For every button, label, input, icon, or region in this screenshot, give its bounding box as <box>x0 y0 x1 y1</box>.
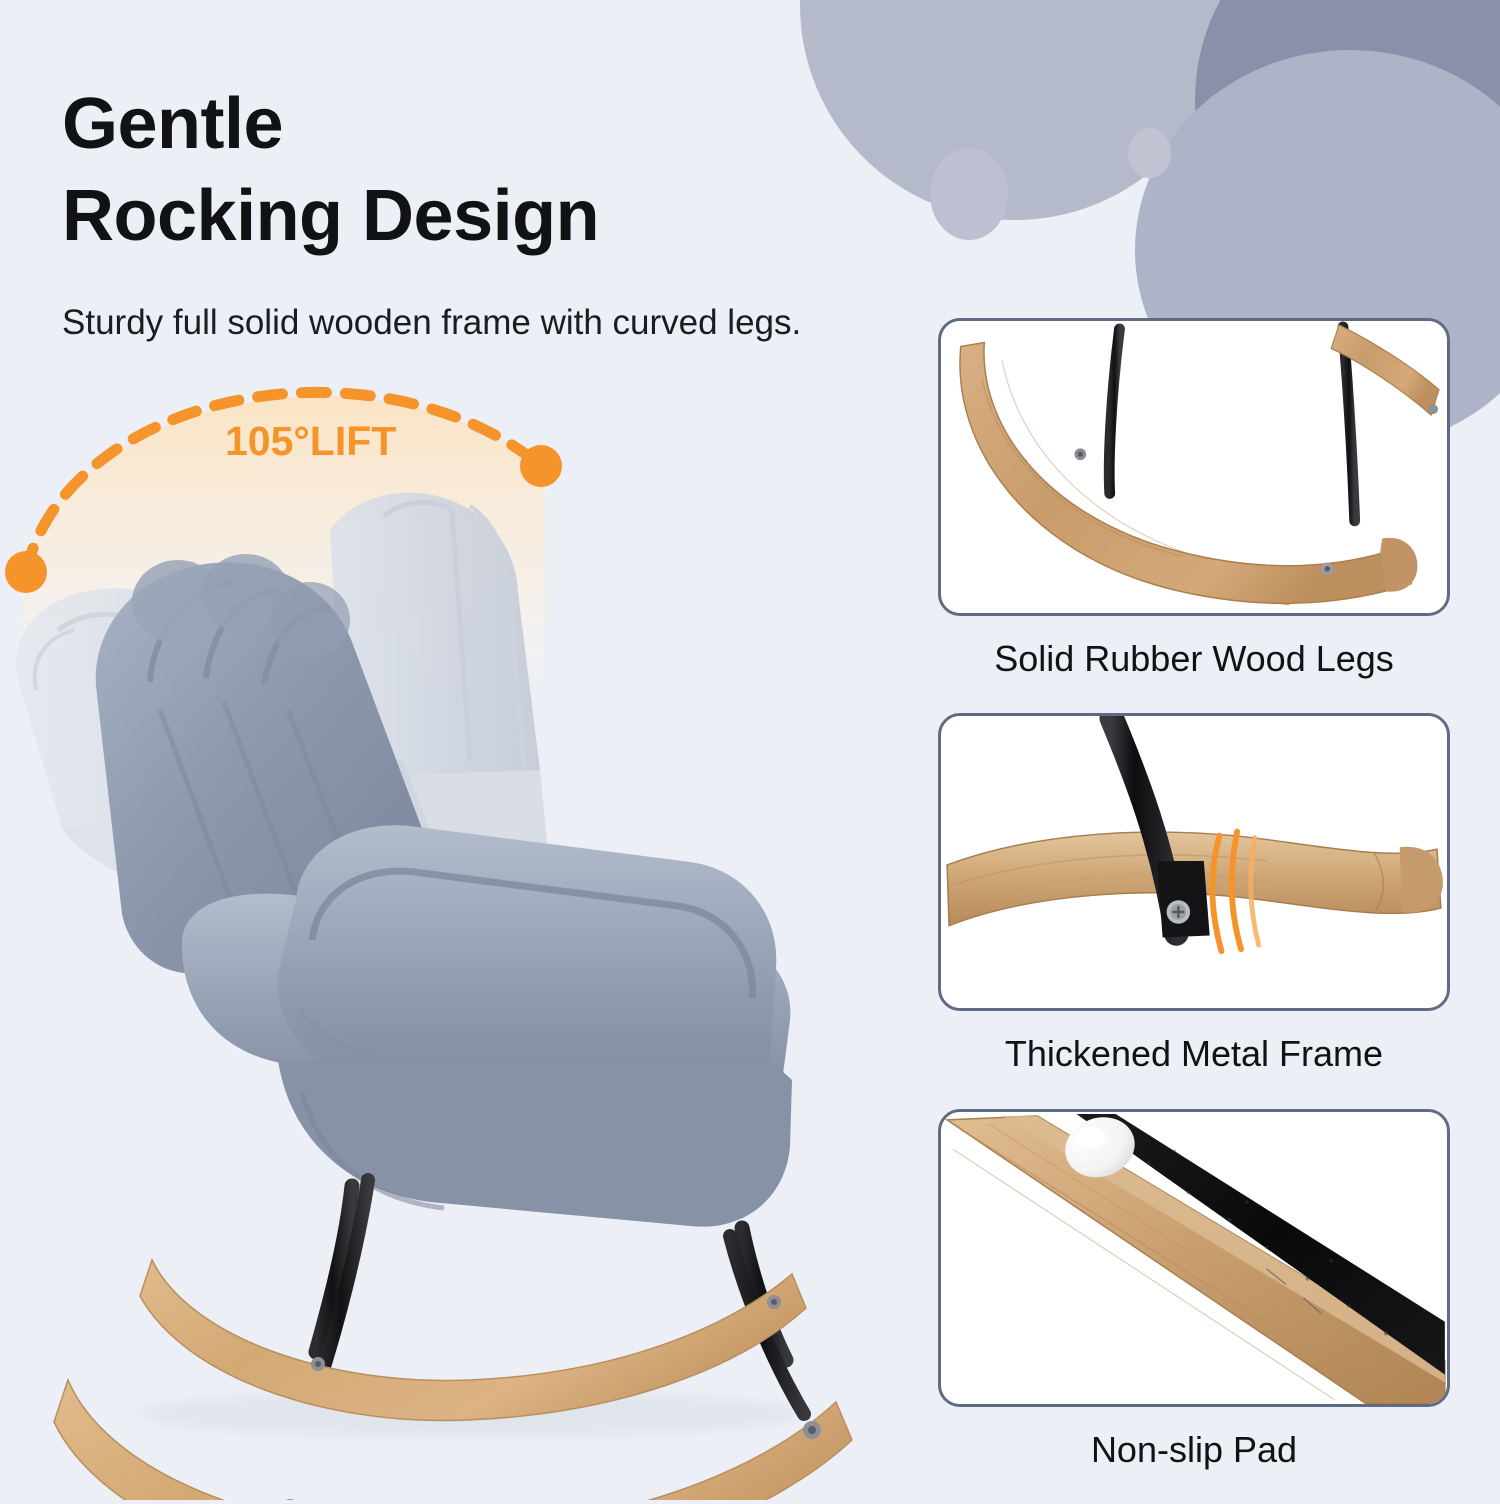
wooden-rocker-far <box>140 1260 806 1420</box>
decorative-blob-dark <box>1195 0 1500 310</box>
arc-endpoint-dot-icon-right <box>520 445 562 487</box>
angle-badge-label: 105°LIFT <box>225 418 396 464</box>
feature-item-non-slip-pad: Non-slip Pad <box>938 1109 1450 1490</box>
arc-endpoint-dot-icon-left <box>5 551 47 593</box>
decorative-dot-small <box>1128 128 1171 178</box>
feature-item-solid-rubber-wood-legs: Solid Rubber Wood Legs <box>938 318 1450 699</box>
feature-card-1 <box>938 318 1450 616</box>
hero-rocking-chair: 105°LIFT <box>0 380 900 1500</box>
feature-caption-3: Non-slip Pad <box>938 1407 1450 1490</box>
non-slip-felt-pad-photo <box>941 1112 1447 1404</box>
header: Gentle Rocking Design Sturdy full solid … <box>62 78 942 346</box>
feature-card-3 <box>938 1109 1450 1407</box>
feature-list: Solid Rubber Wood Legs <box>938 318 1450 1504</box>
page-subtitle: Sturdy full solid wooden frame with curv… <box>62 300 942 346</box>
metal-frame-joint-photo <box>941 716 1447 1008</box>
wooden-rocker-leg-photo <box>941 321 1447 613</box>
feature-caption-1: Solid Rubber Wood Legs <box>938 616 1450 699</box>
feature-card-2 <box>938 713 1450 1011</box>
page-title: Gentle Rocking Design <box>62 78 942 262</box>
feature-caption-2: Thickened Metal Frame <box>938 1011 1450 1094</box>
feature-item-thickened-metal-frame: Thickened Metal Frame <box>938 713 1450 1094</box>
